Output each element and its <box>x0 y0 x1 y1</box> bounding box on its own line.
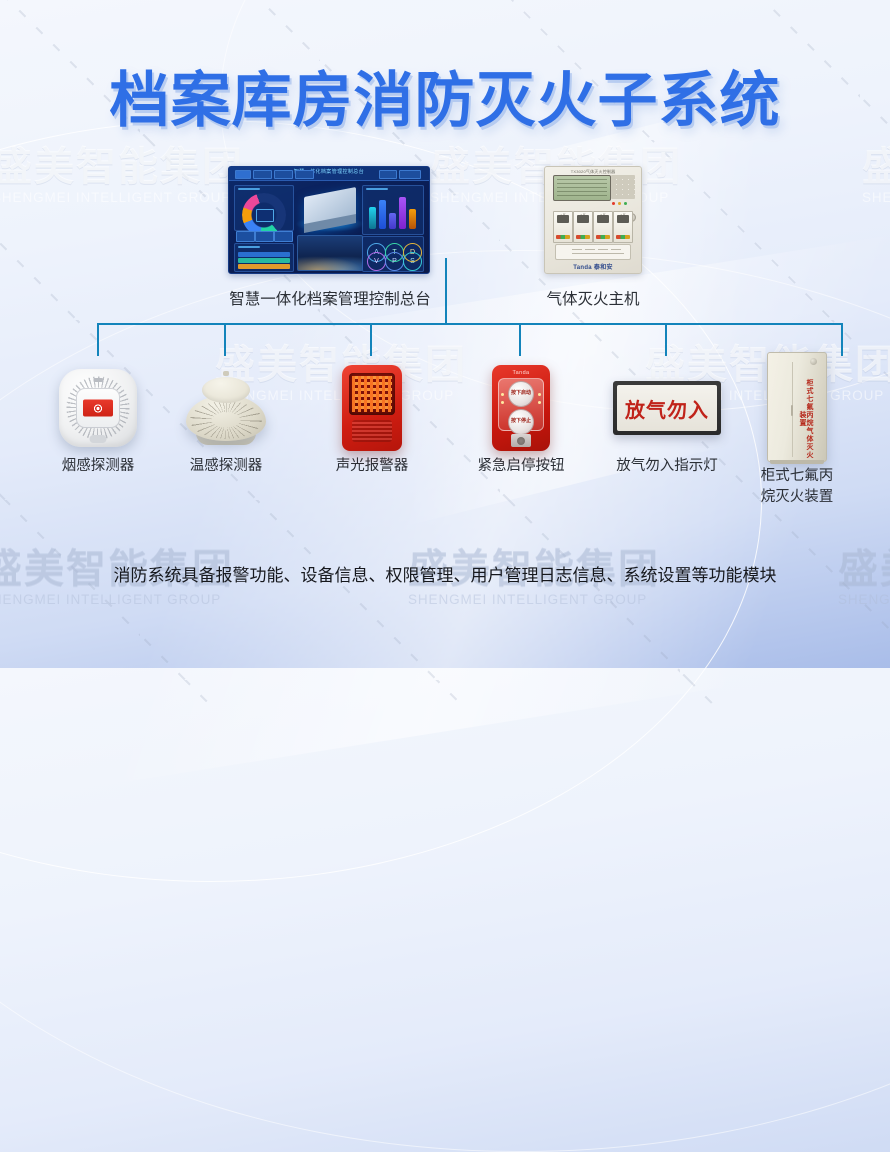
wave-bar <box>238 252 290 257</box>
dashboard-bar-chart-panel <box>362 185 424 235</box>
node-console: 智慧一体化档案管理控制总台 <box>228 166 432 311</box>
dashboard-chip[interactable] <box>253 170 272 179</box>
emergency-start-stop-button-icon[interactable]: Tanda 按下启动 按下停止 <box>492 365 550 451</box>
host-zone-module[interactable]: 1 区 <box>553 211 573 243</box>
key-lock[interactable] <box>511 434 531 447</box>
host-brand-text: Tanda 泰和安 <box>545 262 641 271</box>
chart-bar <box>369 207 376 229</box>
connector-drop-2 <box>224 323 226 356</box>
device-smoke-detector: 烟感探测器 <box>40 360 156 477</box>
detector-top-cap <box>202 377 250 403</box>
host-warning-label <box>555 244 631 260</box>
alarm-led-window <box>349 373 395 415</box>
detector-fins <box>190 401 262 439</box>
gas-release-indicator-light-icon: 放气勿入 <box>613 381 721 435</box>
gauge-value-box <box>256 209 274 222</box>
zone-screen <box>617 215 629 223</box>
zone-screen <box>577 215 589 223</box>
dashboard-mini-button[interactable] <box>236 231 255 242</box>
host-zone-module[interactable]: 4 区 <box>613 211 633 243</box>
device-caption-heat-detector: 温感探测器 <box>168 456 284 477</box>
cabinet-extinguisher-icon: 柜式七氟丙烷气体灭火装置 <box>767 352 827 462</box>
device-caption-cabinet-line2: 烷灭火装置 <box>745 487 849 508</box>
connector-drop-4 <box>519 323 521 356</box>
dashboard-mini-button[interactable] <box>274 231 293 242</box>
watermark-en: SHENGMEI INTELLIGENT GROUP <box>0 592 234 607</box>
device-emergency-button: Tanda 按下启动 按下停止 紧急启停按钮 <box>463 360 579 477</box>
zone-led-row <box>596 235 610 239</box>
watermark-en: SHENGMEI INTELLIGENT GROUP <box>862 190 890 205</box>
device-sound-light-alarm: 声光报警器 <box>314 360 430 477</box>
sound-light-alarm-icon <box>342 365 402 451</box>
device-caption-cabinet-line1: 柜式七氟丙 <box>745 466 849 487</box>
wave-bar <box>238 264 290 269</box>
host-led-fault <box>618 202 621 205</box>
smoke-detector-icon <box>59 369 137 447</box>
dashboard-chip[interactable] <box>399 170 421 179</box>
cabinet-base <box>770 460 824 464</box>
connector-horizontal-bus <box>97 323 843 325</box>
dashboard-wave-panel <box>234 243 294 272</box>
host-zone-module[interactable]: 3 区 <box>593 211 613 243</box>
device-gas-release-sign: 放气勿入 放气勿入指示灯 <box>609 360 725 477</box>
dashboard-video-thumbnail[interactable] <box>297 235 363 271</box>
detector-nipple <box>223 371 229 376</box>
zone-screen <box>597 215 609 223</box>
zone-screen <box>557 215 569 223</box>
zone-led-row <box>556 235 570 239</box>
dashboard-chip[interactable] <box>295 170 314 179</box>
footnote-text: 消防系统具备报警功能、设备信息、权限管理、用户管理日志信息、系统设置等功能模块 <box>60 560 830 591</box>
watermark-cn: 盛美智能集团 <box>838 548 890 590</box>
connector-drop-3 <box>370 323 372 356</box>
device-caption-emergency-button: 紧急启停按钮 <box>463 456 579 477</box>
button-brand-text: Tanda <box>492 370 550 376</box>
sign-text: 放气勿入 <box>625 394 709 423</box>
cabinet-door[interactable] <box>772 362 793 457</box>
panel-heading <box>238 246 260 248</box>
cabinet-handle[interactable] <box>791 405 793 416</box>
watermark-cn: 盛美智能集团 <box>0 146 244 188</box>
dashboard-mini-button[interactable] <box>255 231 274 242</box>
zone-led-row <box>616 235 630 239</box>
watermark: 盛美智能集团 SHENGMEI INTELLIGENT GROUP <box>862 146 890 205</box>
grid-icon-patrol[interactable]: P <box>385 252 404 271</box>
watermark-en: SHENGMEI INTELLIGENT GROUP <box>838 592 890 607</box>
watermark-en: SHENGMEI INTELLIGENT GROUP <box>0 190 244 205</box>
gas-extinguishing-host-panel: TX3020气体灭火控制器 1 区 2 区 3 区 <box>544 166 642 274</box>
watermark-en: SHENGMEI INTELLIGENT GROUP <box>408 592 660 607</box>
watermark-cn: 盛美智能集团 <box>862 146 890 188</box>
dashboard-chip[interactable] <box>274 170 293 179</box>
page-title: 档案库房消防灭火子系统 <box>0 52 890 139</box>
wave-bar <box>238 258 290 263</box>
host-zone-module[interactable]: 2 区 <box>573 211 593 243</box>
cabinet-nozzle <box>810 358 817 365</box>
chart-bar <box>379 200 386 229</box>
dashboard-chip[interactable] <box>235 170 251 179</box>
host-led-power <box>624 202 627 205</box>
detector-led <box>94 378 103 382</box>
node-caption-console: 智慧一体化档案管理控制总台 <box>228 290 432 311</box>
chart-bar <box>399 197 406 229</box>
heat-detector-icon <box>186 371 266 445</box>
stop-button[interactable]: 按下停止 <box>508 409 534 435</box>
connector-vertical-trunk <box>445 258 447 324</box>
device-cabinet-extinguisher: 柜式七氟丙烷气体灭火装置 柜式七氟丙 烷灭火装置 <box>745 350 849 508</box>
detector-bottom-button[interactable] <box>90 435 107 443</box>
cabinet-label-text: 柜式七氟丙烷气体灭火装置 <box>799 377 813 461</box>
connector-drop-1 <box>97 323 99 356</box>
watermark: 盛美智能集团 SHENGMEI INTELLIGENT GROUP <box>838 548 890 607</box>
alarm-speaker-grille <box>352 420 392 442</box>
panel-heading <box>366 188 388 190</box>
connector-drop-5 <box>665 323 667 356</box>
dashboard-model-panel <box>296 185 364 231</box>
grid-icon-settings[interactable]: S <box>403 252 422 271</box>
chart-bar <box>389 213 396 229</box>
detector-red-label <box>83 400 113 417</box>
device-caption-sound-light-alarm: 声光报警器 <box>314 456 430 477</box>
dashboard-chip[interactable] <box>379 170 397 179</box>
dashboard-gauge-panel <box>234 185 294 231</box>
node-caption-gas-host: 气体灭火主机 <box>508 290 678 311</box>
grid-icon-video[interactable]: V <box>367 252 386 271</box>
sign-face: 放气勿入 <box>617 385 717 431</box>
device-caption-smoke-detector: 烟感探测器 <box>40 456 156 477</box>
device-caption-gas-release-sign: 放气勿入指示灯 <box>609 456 725 477</box>
alarm-led-matrix <box>352 376 392 412</box>
console-dashboard-screen: 智慧一体化档案管理控制总台 <box>228 166 430 274</box>
node-gas-host: TX3020气体灭火控制器 1 区 2 区 3 区 <box>508 166 678 311</box>
dashboard-icon-grid-panel: A T D V P S <box>362 236 424 272</box>
zone-led-row <box>576 235 590 239</box>
chart-bar <box>409 209 416 229</box>
watermark: 盛美智能集团 SHENGMEI INTELLIGENT GROUP <box>0 146 244 205</box>
host-keypad[interactable] <box>611 175 635 199</box>
host-led-alarm <box>612 202 615 205</box>
device-heat-detector: 温感探测器 <box>168 360 284 477</box>
panel-heading <box>238 188 260 190</box>
host-lcd-display <box>553 175 611 201</box>
start-button[interactable]: 按下启动 <box>508 381 534 407</box>
